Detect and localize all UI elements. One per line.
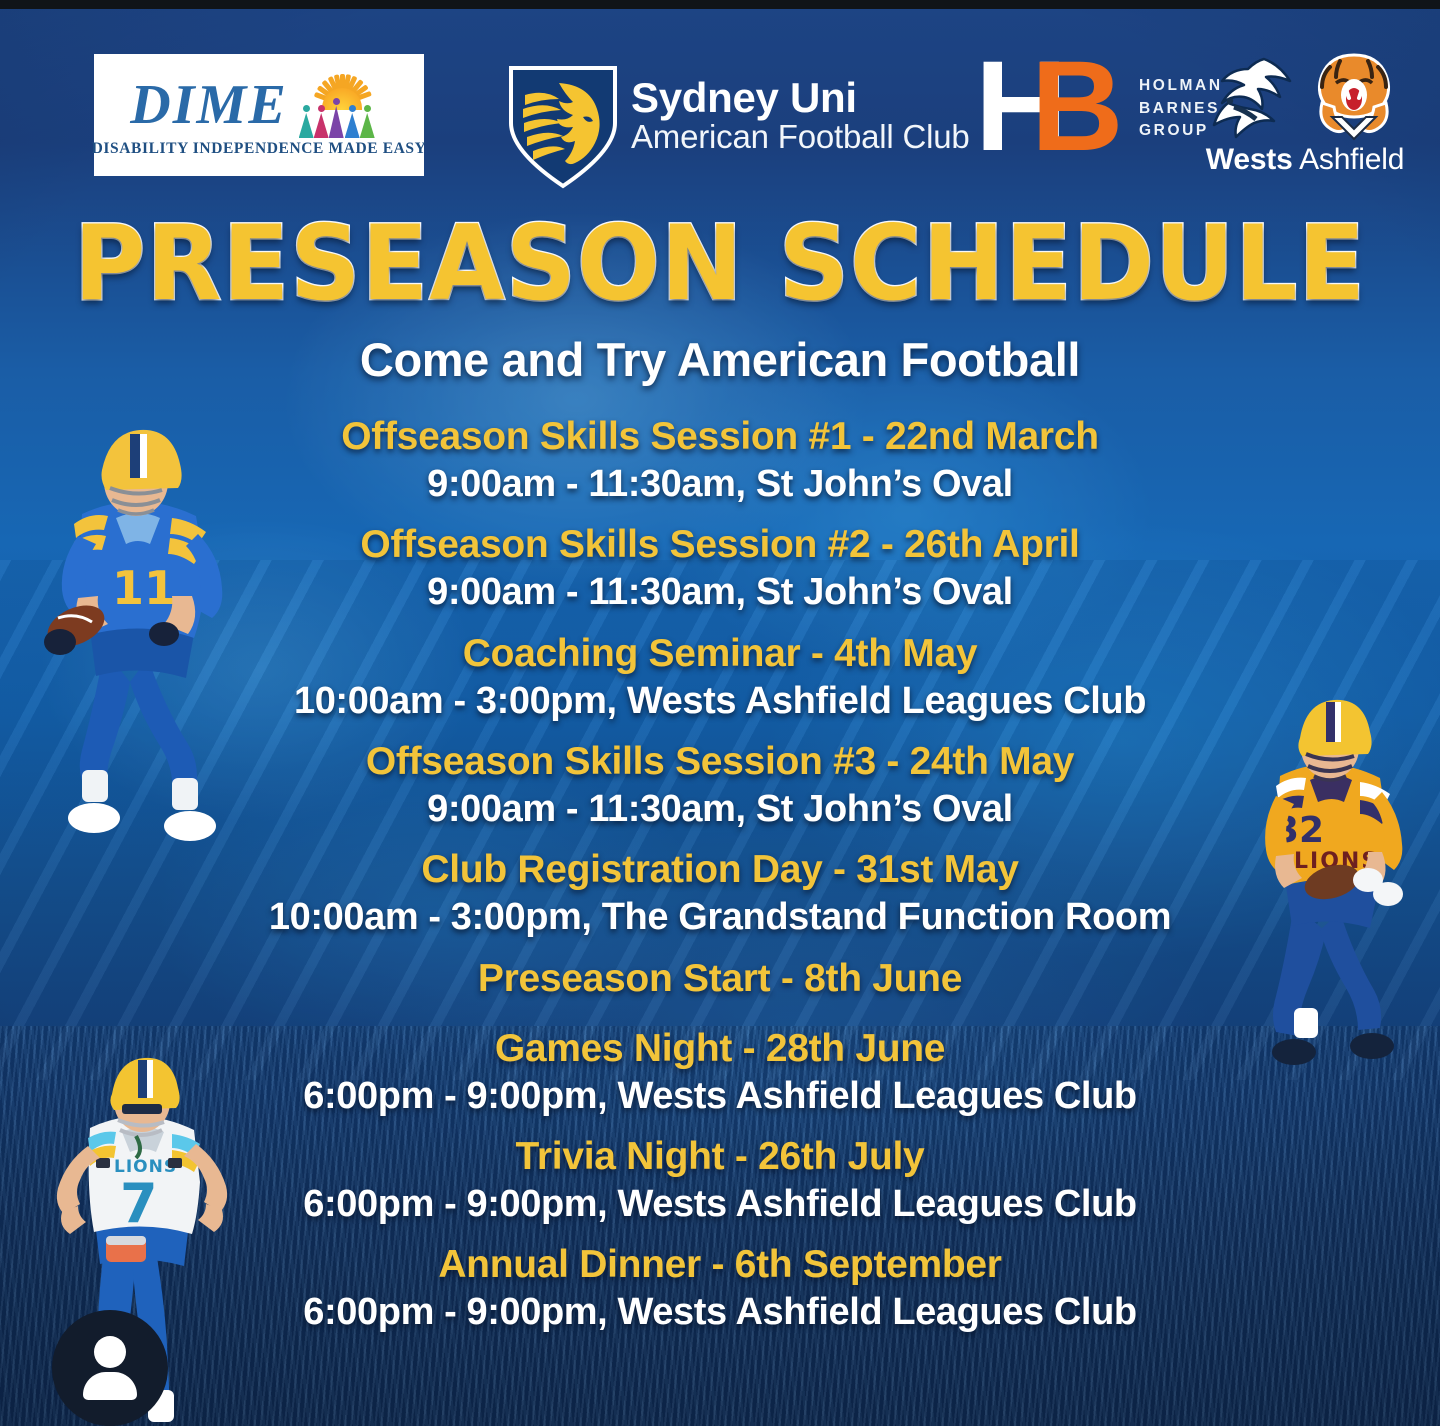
club-name-line1: Sydney Uni	[631, 77, 970, 120]
event-detail: 6:00pm - 9:00pm, Wests Ashfield Leagues …	[0, 1181, 1440, 1227]
event-detail: 6:00pm - 9:00pm, Wests Ashfield Leagues …	[0, 1073, 1440, 1119]
sydney-uni-afc-logo: Sydney Uni American Football Club	[497, 53, 970, 177]
schedule-item: Annual Dinner - 6th September 6:00pm - 9…	[0, 1241, 1440, 1335]
hb-letter-b: B	[1031, 57, 1127, 161]
schedule-item: Offseason Skills Session #1 - 22nd March…	[0, 413, 1440, 507]
schedule-item: Games Night - 28th June 6:00pm - 9:00pm,…	[0, 1025, 1440, 1119]
event-detail: 6:00pm - 9:00pm, Wests Ashfield Leagues …	[0, 1289, 1440, 1335]
avatar-head	[94, 1336, 126, 1368]
schedule-item: Club Registration Day - 31st May 10:00am…	[0, 846, 1440, 940]
holman-barnes-logo: H B HOLMAN BARNES GROUP	[975, 57, 1223, 161]
event-title: Trivia Night - 26th July	[0, 1133, 1440, 1181]
dime-wordmark: DIME	[130, 77, 287, 133]
dime-tagline: DISABILITY INDEPENDENCE MADE EASY	[92, 140, 427, 158]
page-title: PRESEASON SCHEDULE	[0, 213, 1440, 316]
event-detail: 9:00am - 11:30am, St John’s Oval	[0, 569, 1440, 615]
event-title: Offseason Skills Session #2 - 26th April	[0, 521, 1440, 569]
event-title: Preseason Start - 8th June	[0, 955, 1440, 1003]
schedule-item: Coaching Seminar - 4th May 10:00am - 3:0…	[0, 630, 1440, 724]
person-avatar-icon[interactable]	[52, 1310, 168, 1426]
wests-ashfield-logo: Wests Ashfield	[1205, 49, 1405, 177]
lion-shield-icon	[497, 53, 609, 177]
top-black-bar	[0, 0, 1440, 9]
event-detail: 10:00am - 3:00pm, Wests Ashfield Leagues…	[0, 678, 1440, 724]
wests-word-light: Ashfield	[1299, 143, 1404, 176]
event-detail: 9:00am - 11:30am, St John’s Oval	[0, 786, 1440, 832]
event-title: Games Night - 28th June	[0, 1025, 1440, 1073]
magpie-icon	[1206, 55, 1298, 141]
sunburst-people-icon	[296, 72, 388, 138]
schedule-item: Preseason Start - 8th June	[0, 955, 1440, 1003]
schedule-list: Offseason Skills Session #1 - 22nd March…	[0, 413, 1440, 1336]
tiger-icon	[1304, 49, 1404, 141]
event-title: Offseason Skills Session #3 - 24th May	[0, 738, 1440, 786]
schedule-item: Offseason Skills Session #3 - 24th May 9…	[0, 738, 1440, 832]
event-title: Coaching Seminar - 4th May	[0, 630, 1440, 678]
event-title: Club Registration Day - 31st May	[0, 846, 1440, 894]
dime-logo: DIME	[94, 54, 424, 176]
page-subtitle: Come and Try American Football	[0, 332, 1440, 387]
avatar-body	[83, 1372, 137, 1400]
sponsor-logo-row: DIME	[0, 9, 1440, 174]
poster-canvas: DIME	[0, 0, 1440, 1426]
schedule-item: Trivia Night - 26th July 6:00pm - 9:00pm…	[0, 1133, 1440, 1227]
schedule-item: Offseason Skills Session #2 - 26th April…	[0, 521, 1440, 615]
event-detail: 10:00am - 3:00pm, The Grandstand Functio…	[0, 894, 1440, 940]
hb-monogram-icon: H B	[975, 57, 1127, 161]
event-detail: 9:00am - 11:30am, St John’s Oval	[0, 461, 1440, 507]
event-title: Offseason Skills Session #1 - 22nd March	[0, 413, 1440, 461]
event-title: Annual Dinner - 6th September	[0, 1241, 1440, 1289]
wests-word-bold: Wests	[1206, 143, 1293, 176]
club-name-line2: American Football Club	[631, 120, 970, 154]
